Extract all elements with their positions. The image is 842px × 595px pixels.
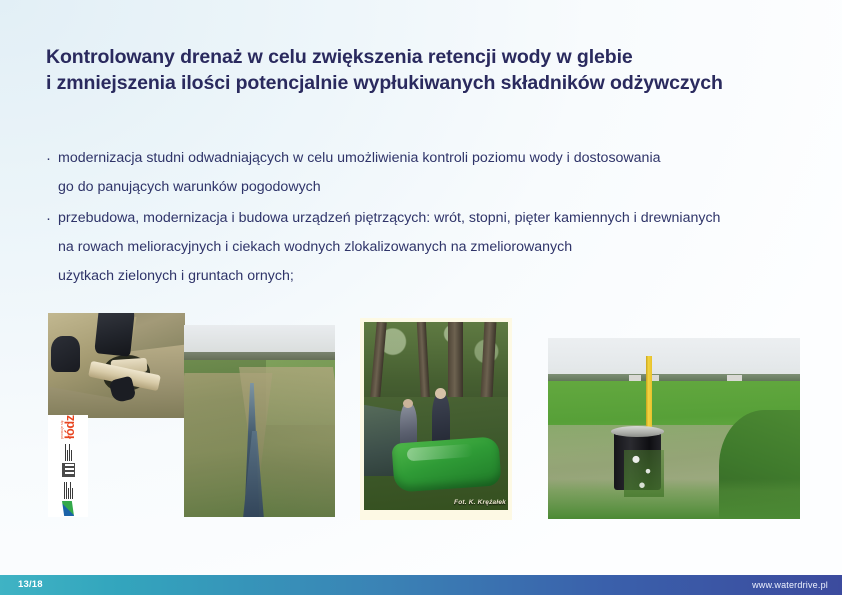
footer-website-url[interactable]: www.waterdrive.pl: [752, 575, 828, 595]
bullet-list: · modernizacja studni odwadniających w c…: [46, 144, 826, 293]
photo-credit-caption: Fot. K. Krężałek: [454, 499, 506, 506]
bullet-item-1: · modernizacja studni odwadniających w c…: [46, 144, 826, 202]
page-number: 13/18: [18, 575, 43, 595]
bullet-1-line-2: go do panujących warunków pogodowych: [46, 173, 826, 202]
title-line-2: i zmniejszenia ilości potencjalnie wypłu…: [46, 70, 806, 96]
lodzkie-wordmark: łódzkie: [64, 415, 76, 439]
lodzkie-region-logo: promuje się łódzkie: [60, 415, 76, 439]
bullet-2-line-2: na rowach melioracyjnych i ciekach wodny…: [46, 233, 826, 262]
photo-control-well-field: [548, 338, 800, 519]
bullet-marker-icon: ·: [46, 204, 58, 233]
institution-building-emblem-icon: [62, 444, 75, 477]
bullet-2-line-1: przebudowa, modernizacja i budowa urządz…: [58, 204, 720, 233]
bullet-2-line-3: użytkach zielonych i gruntach ornych;: [46, 262, 826, 291]
eu-flag-emblem-icon: [62, 482, 74, 516]
slide-title: Kontrolowany drenaż w celu zwiększenia r…: [46, 44, 806, 96]
bullet-item-2: · przebudowa, modernizacja i budowa urzą…: [46, 204, 826, 291]
slide-footer: 13/18 www.waterdrive.pl: [0, 575, 842, 595]
bullet-marker-icon: ·: [46, 144, 58, 173]
presentation-slide: Kontrolowany drenaż w celu zwiększenia r…: [0, 0, 842, 595]
bullet-1-line-1: modernizacja studni odwadniających w cel…: [58, 144, 661, 173]
photo-ditch-pipe-installation: [48, 313, 185, 418]
title-line-1: Kontrolowany drenaż w celu zwiększenia r…: [46, 44, 806, 70]
photo-inflatable-weir-stream: Fot. K. Krężałek: [360, 318, 512, 520]
logo-strip: promuje się łódzkie: [48, 415, 88, 517]
photo-field-drainage-ditch: [184, 325, 335, 517]
